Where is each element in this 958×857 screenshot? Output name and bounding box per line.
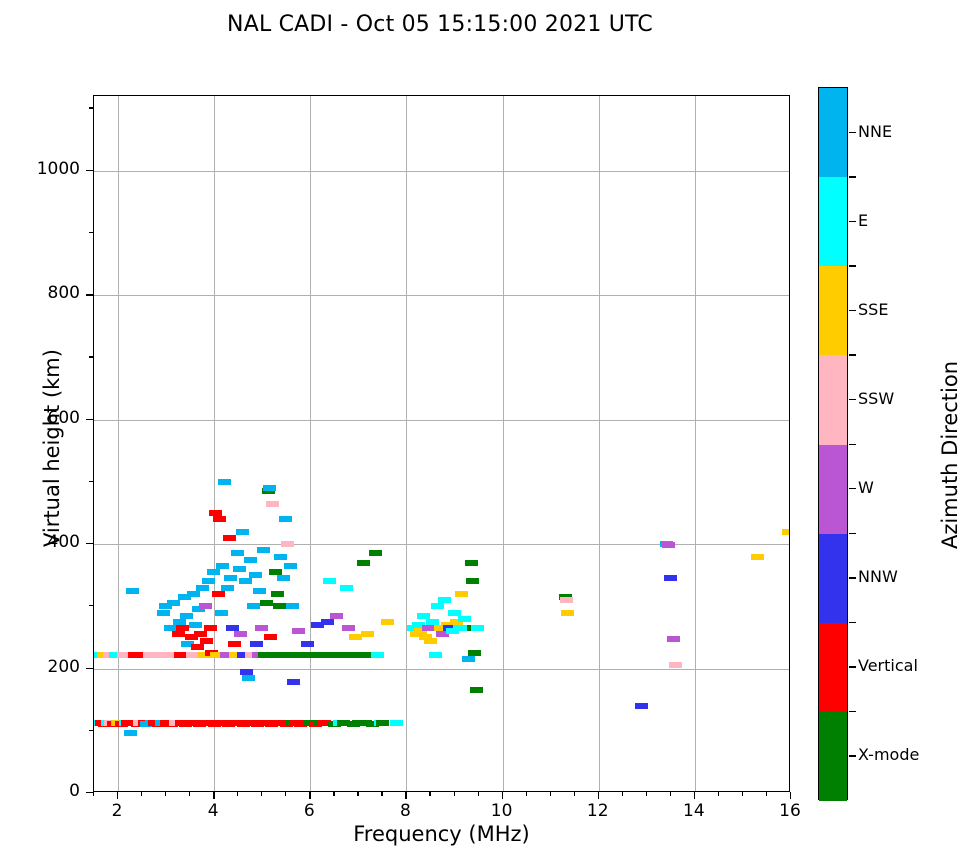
data-point [126,588,139,594]
x-tick-minor [261,792,262,796]
data-point [281,541,294,547]
x-tick [309,792,310,799]
colorbar-tick [849,221,856,222]
data-point [218,479,231,485]
data-point [381,619,394,625]
data-point [669,662,682,668]
data-point [253,588,266,594]
x-tick-minor [550,792,551,796]
data-point [462,656,475,662]
colorbar-tick [849,399,856,400]
data-point [330,613,343,619]
colorbar-boundary-tick [849,354,856,355]
data-point [266,501,279,507]
colorbar-boundary-tick [849,265,856,266]
data-point [466,578,479,584]
data-point [274,554,287,560]
colorbar-label-ssw: SSW [858,389,894,408]
data-point [369,550,382,556]
colorbar-label-nne: NNE [858,122,892,141]
data-point [221,585,234,591]
data-point [271,591,284,597]
data-point [212,591,225,597]
data-point [273,603,286,609]
x-tick [694,792,695,799]
data-point [323,578,336,584]
ionogram-figure: NAL CADI - Oct 05 15:15:00 2021 UTC 2468… [0,0,958,857]
data-point [228,641,241,647]
data-point [189,622,202,628]
y-tick-minor [89,481,93,482]
data-point [371,652,384,658]
data-point [664,575,677,581]
x-tick-minor [141,792,142,796]
x-tick [790,792,791,799]
plot-area[interactable] [93,95,790,792]
x-tick-minor [429,792,430,796]
data-point [167,600,180,606]
x-tick-minor [622,792,623,796]
y-tick [86,668,93,669]
data-point [194,631,207,637]
data-point [301,641,314,647]
data-point [240,669,253,675]
y-axis-label: Virtual height (km) [40,148,64,748]
colorbar-segment-nnw[interactable] [819,534,847,623]
y-tick [86,419,93,420]
data-point [279,516,292,522]
data-point [635,703,648,709]
colorbar[interactable] [818,87,848,800]
data-point [287,679,300,685]
x-tick-label: 2 [87,801,147,821]
colorbar-tick [849,132,856,133]
x-tick-minor [93,792,94,796]
data-point [357,560,370,566]
data-point [213,516,226,522]
colorbar-label-vertical: Vertical [858,656,918,675]
x-tick-minor [165,792,166,796]
data-point [244,557,257,563]
data-point [751,554,764,560]
data-point [417,613,430,619]
y-tick [86,294,93,295]
data-point [202,578,215,584]
data-point [200,638,213,644]
colorbar-boundary-tick [849,176,856,177]
x-tick-label: 8 [375,801,435,821]
colorbar-segment-vertical[interactable] [819,623,847,712]
data-point [124,730,137,736]
y-tick-minor [89,605,93,606]
data-point [321,619,334,625]
y-tick-minor [89,232,93,233]
x-tick-label: 6 [279,801,339,821]
colorbar-tick [849,755,856,756]
data-point [257,547,270,553]
colorbar-segment-nne[interactable] [819,88,847,177]
x-tick-minor [718,792,719,796]
data-point [465,560,478,566]
colorbar-label-x-mode: X-mode [858,745,919,764]
x-tick-label: 16 [760,801,820,821]
data-point [342,625,355,631]
data-point [216,563,229,569]
x-tick [598,792,599,799]
data-point [204,625,217,631]
y-tick [86,543,93,544]
data-point [176,625,189,631]
colorbar-tick [849,666,856,667]
data-point [233,566,246,572]
y-tick [86,792,93,793]
data-point [561,610,574,616]
x-tick-minor [381,792,382,796]
x-tick [213,792,214,799]
x-axis-label: Frequency (MHz) [93,822,790,846]
data-point [269,569,282,575]
data-point [172,631,185,637]
data-point [215,610,228,616]
data-point [277,575,290,581]
data-point [242,675,255,681]
y-tick-minor [89,730,93,731]
x-tick-minor [333,792,334,796]
data-point [236,529,249,535]
data-point [209,510,222,516]
x-tick-minor [454,792,455,796]
colorbar-label-w: W [858,478,874,497]
colorbar-segment-x-mode[interactable] [819,712,847,801]
x-tick-label: 4 [183,801,243,821]
y-tick-minor [89,107,93,108]
data-point [667,636,680,642]
data-point [199,603,212,609]
data-point [191,644,204,650]
x-tick-minor [237,792,238,796]
colorbar-tick [849,577,856,578]
colorbar-boundary-tick [849,444,856,445]
data-point [376,720,389,726]
data-point [470,687,483,693]
data-point [187,591,200,597]
colorbar-label-nnw: NNW [858,567,898,586]
page-title: NAL CADI - Oct 05 15:15:00 2021 UTC [0,12,880,37]
data-point [239,578,252,584]
data-point [458,616,471,622]
x-tick-minor [526,792,527,796]
data-point [424,638,437,644]
x-tick-label: 12 [568,801,628,821]
data-point [361,631,374,637]
colorbar-label-sse: SSE [858,300,888,319]
data-point [455,591,468,597]
x-tick-minor [670,792,671,796]
data-point [471,625,484,631]
colorbar-segment-e[interactable] [819,177,847,266]
x-tick-minor [742,792,743,796]
x-tick-minor [189,792,190,796]
data-point [247,603,260,609]
x-tick-label: 14 [664,801,724,821]
data-point [426,619,439,625]
data-point [226,625,239,631]
x-tick-label: 10 [472,801,532,821]
colorbar-segment-sse[interactable] [819,266,847,355]
x-tick-minor [357,792,358,796]
data-point [250,641,263,647]
y-tick-label: 0 [16,781,80,801]
data-point [255,625,268,631]
data-point [260,600,273,606]
data-point [231,550,244,556]
x-tick-minor [646,792,647,796]
colorbar-boundary-tick [849,711,856,712]
data-point [207,569,220,575]
colorbar-segment-ssw[interactable] [819,355,847,444]
data-layer [94,96,789,791]
data-point [196,585,209,591]
colorbar-tick [849,310,856,311]
data-point [224,575,237,581]
data-point [560,597,573,603]
x-tick-minor [766,792,767,796]
y-tick [86,170,93,171]
x-tick [405,792,406,799]
colorbar-tick [849,488,856,489]
data-point [223,535,236,541]
x-tick [502,792,503,799]
colorbar-label-e: E [858,211,868,230]
data-point [340,585,353,591]
data-point [234,631,247,637]
data-point [468,650,481,656]
data-point [390,720,403,726]
data-point [438,597,451,603]
data-point [448,610,461,616]
x-tick-minor [285,792,286,796]
colorbar-segment-w[interactable] [819,445,847,534]
data-point [286,603,299,609]
data-point [173,619,186,625]
x-tick-minor [574,792,575,796]
colorbar-boundary-tick [849,533,856,534]
x-tick-minor [478,792,479,796]
data-point [429,652,442,658]
data-point [157,610,170,616]
data-point [249,572,262,578]
data-point [180,613,193,619]
data-point [284,563,297,569]
x-tick [117,792,118,799]
colorbar-title: Azimuth Direction [938,205,958,705]
colorbar-boundary-tick [849,622,856,623]
data-point [662,542,675,548]
data-point [263,485,276,491]
data-point [292,628,305,634]
data-point [264,634,277,640]
data-point [431,603,444,609]
y-tick-minor [89,356,93,357]
data-point [782,529,790,535]
